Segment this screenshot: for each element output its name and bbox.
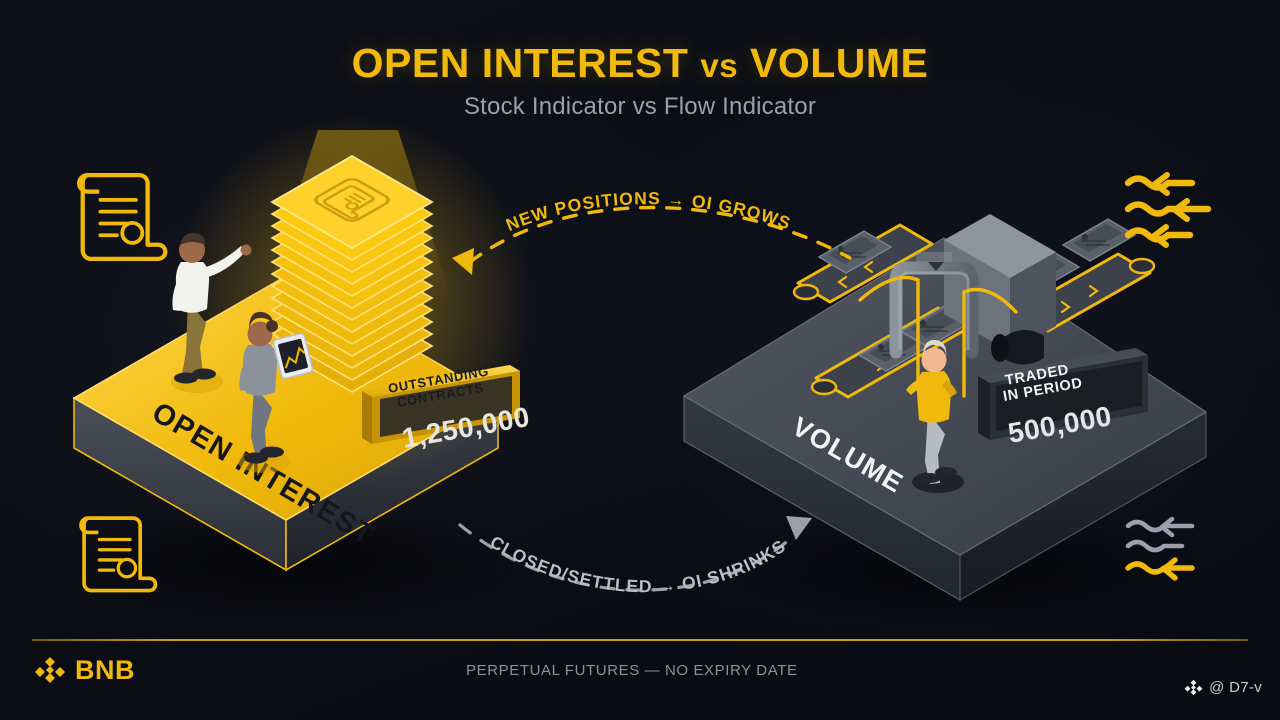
bnb-brand-label: BNB [75, 655, 135, 686]
bnb-diamond-icon-credit [1184, 678, 1203, 697]
bnb-brand: BNB [34, 654, 135, 686]
credit-label: @ D7-v [1209, 679, 1262, 696]
infographic-canvas: OPEN INTEREST vs VOLUME Stock Indicator … [0, 0, 1280, 720]
flow-arrows-gold [1128, 175, 1208, 245]
footer-note: PERPETUAL FUTURES — NO EXPIRY DATE [466, 662, 798, 679]
arc-top-label: NEW POSITIONS → OI GROWS [503, 188, 794, 235]
footer-divider [32, 639, 1248, 641]
open-interest-scene: OPEN INTEREST [74, 115, 532, 570]
contract-scroll-icon-top [79, 175, 165, 259]
credit: @ D7-v [1184, 678, 1262, 697]
illustration-layer: OPEN INTEREST [0, 0, 1280, 720]
bnb-diamond-icon [34, 654, 66, 686]
